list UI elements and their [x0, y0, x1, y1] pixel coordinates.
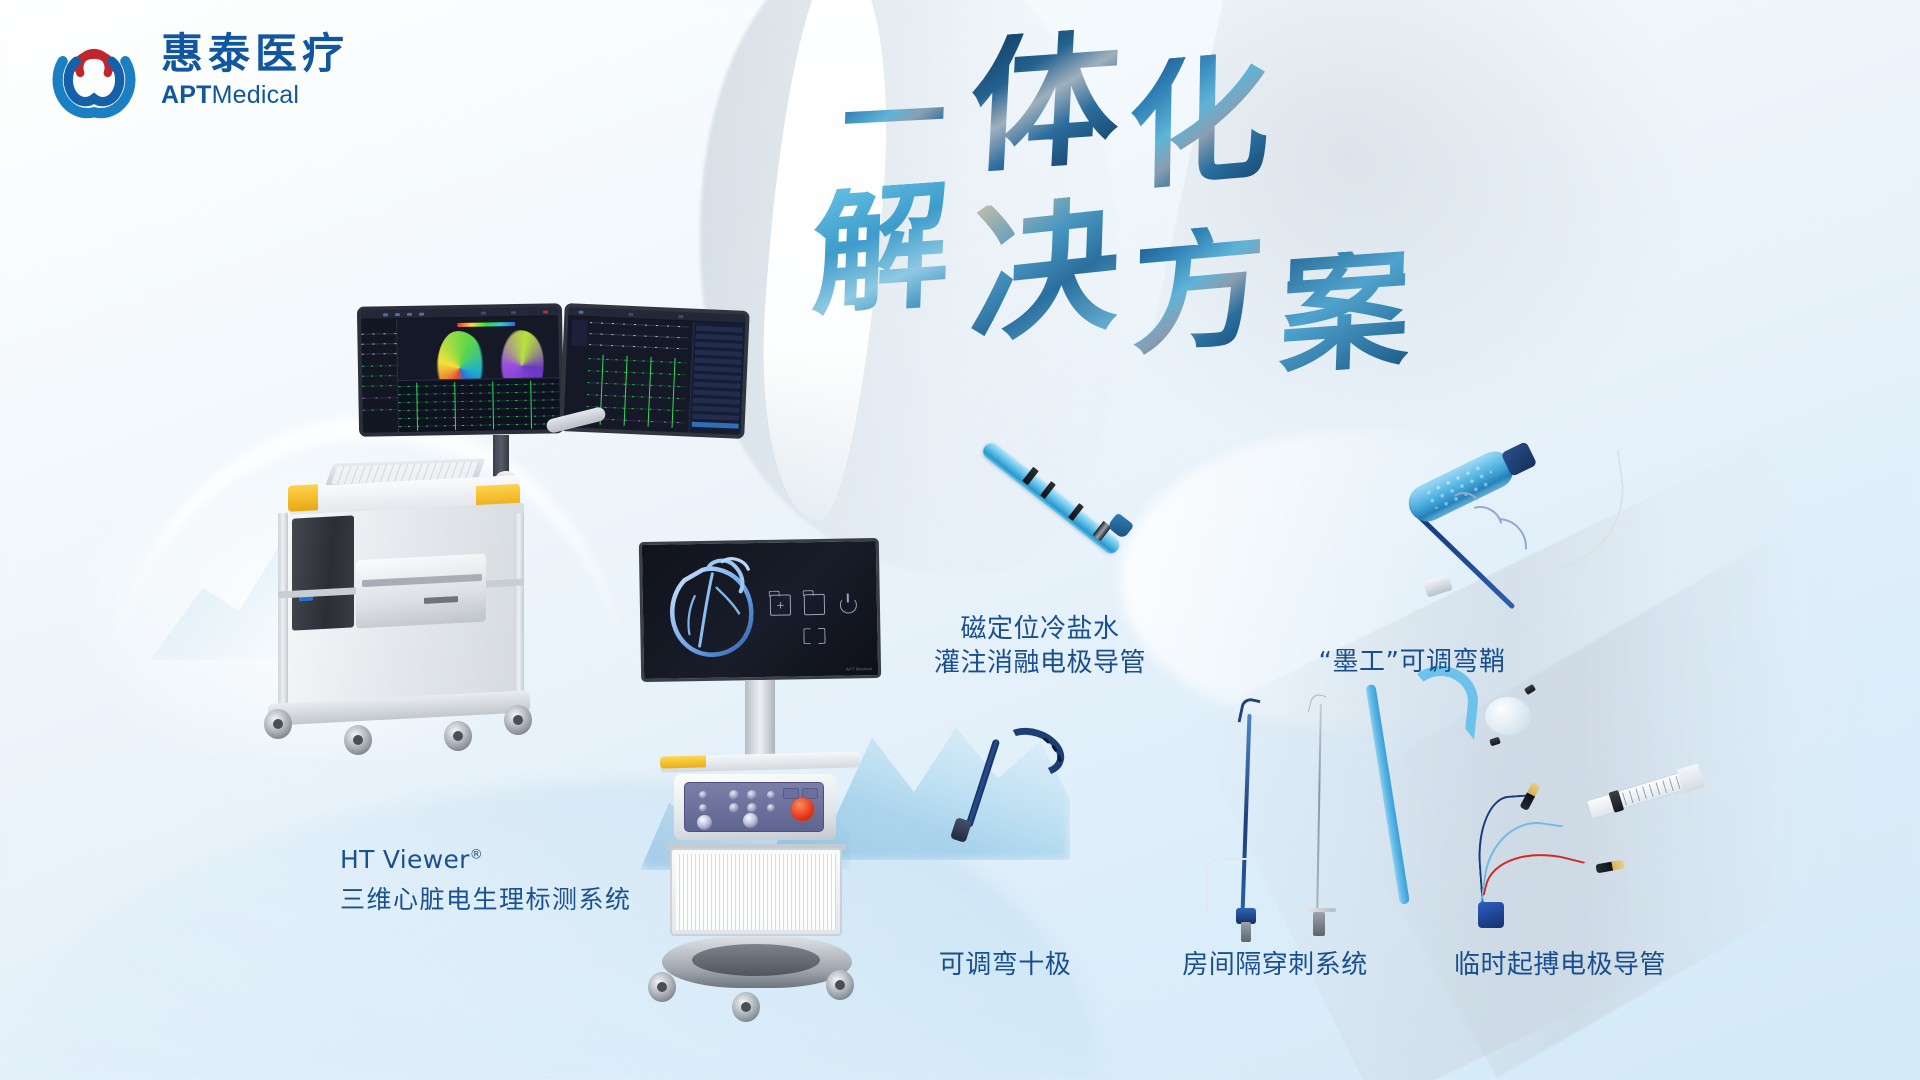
- headline-char-1: 一: [840, 69, 947, 170]
- storage-basket: [670, 848, 842, 936]
- cart-caster: [264, 709, 292, 739]
- logo-en-light: Medical: [212, 81, 300, 109]
- headline-char-3: 化: [1127, 49, 1271, 193]
- main-connector-port[interactable]: [743, 813, 758, 828]
- workstation-name-en-text: HT Viewer: [340, 845, 470, 874]
- ground-port[interactable]: [697, 815, 712, 830]
- sheath-flush-tubing: [1510, 451, 1634, 573]
- cart-caster: [444, 721, 472, 751]
- connector-port[interactable]: [747, 803, 757, 813]
- caption-line-1: 可调弯十极: [939, 948, 1072, 982]
- mapping-toolbar: [361, 307, 558, 319]
- cart-caster: [732, 992, 760, 1022]
- workstation-name-cn: 三维心脏电生理标测系统: [340, 880, 632, 916]
- cart-caster: [344, 725, 372, 755]
- generator-display-cart: APT Medical: [640, 540, 920, 1040]
- inflation-syringe: [1584, 762, 1700, 823]
- catheter-hub: [1478, 902, 1504, 928]
- apt-medical-emblem-icon: [45, 22, 143, 120]
- caption-ablation-catheter: 磁定位冷盐水 灌注消融电极导管: [934, 612, 1146, 681]
- caption-line-1: 临时起搏电极导管: [1454, 948, 1666, 982]
- segmentation-icon[interactable]: [803, 628, 825, 644]
- heart-display-menu: [770, 593, 859, 616]
- poster-canvas: 惠泰医疗 APTMedical 一 体 化 解 决 方 案: [0, 0, 1920, 1080]
- steerable-sheath-illustration: [1395, 430, 1660, 615]
- recording-channel-grid: [688, 322, 745, 435]
- electrode-band: [1524, 684, 1536, 695]
- electrode-band: [1489, 737, 1501, 747]
- connector-port[interactable]: [767, 791, 775, 799]
- new-case-folder-icon[interactable]: [770, 594, 791, 615]
- cart-tray-accent: [660, 755, 706, 768]
- temporary-pacing-catheter-illustration: [1390, 680, 1690, 930]
- caption-line-1: 磁定位冷盐水: [934, 612, 1146, 646]
- headline-char-4: 解: [810, 181, 952, 318]
- connector-port[interactable]: [767, 804, 775, 812]
- caption-temporary-pacing-catheter: 临时起搏电极导管: [1454, 948, 1666, 982]
- dilator-hub-stem: [1241, 922, 1251, 942]
- heart-display-monitor: APT Medical: [639, 538, 881, 682]
- emergency-stop-button[interactable]: [791, 798, 814, 821]
- decapolar-catheter-illustration: [955, 735, 1075, 845]
- trademark-symbol: ®: [470, 848, 483, 863]
- logo-en-bold: APT: [161, 81, 212, 109]
- brand-logo: 惠泰医疗 APTMedical: [45, 22, 349, 120]
- needle-hub: [1313, 912, 1325, 936]
- headline-char-5: 决: [968, 192, 1122, 347]
- cart-caster: [826, 970, 854, 1000]
- display-post: [745, 680, 775, 758]
- cart-pillar-left: [278, 513, 288, 710]
- mapping-side-panel: [361, 319, 399, 433]
- caption-workstation: HT Viewer® 三维心脏电生理标测系统: [340, 845, 632, 916]
- caption-line-1: “墨工”可调弯鞘: [1319, 645, 1506, 679]
- cart-pedestal-inner: [692, 944, 820, 976]
- caption-steerable-sheath: “墨工”可调弯鞘: [1319, 645, 1506, 679]
- recording-label-list: [571, 319, 588, 346]
- lead-connector-pin: [1595, 860, 1624, 874]
- panel-indicator: [783, 788, 799, 799]
- mapping-colorbar: [457, 322, 515, 327]
- cart-accent-left: [288, 484, 318, 512]
- wave-bottom: [0, 780, 1100, 1080]
- connector-port[interactable]: [729, 790, 739, 800]
- headline-char-7: 案: [1278, 247, 1412, 376]
- connector-port[interactable]: [729, 803, 739, 813]
- headline-char-6: 方: [1131, 222, 1267, 358]
- ablation-catheter-illustration: [985, 438, 1170, 548]
- power-icon[interactable]: [838, 593, 859, 614]
- connector-port[interactable]: [747, 790, 757, 800]
- catheter-shaft: [965, 738, 1000, 828]
- headline-calligraphy: 一 体 化 解 决 方 案: [960, 38, 1600, 338]
- computer-tower: [292, 515, 354, 630]
- mapping-screen: [361, 307, 560, 432]
- logo-chinese-name: 惠泰医疗: [161, 32, 349, 76]
- caption-line-1: 房间隔穿刺系统: [1182, 948, 1368, 982]
- catheter-curve: [994, 720, 1071, 784]
- cart-pillar-right: [514, 513, 524, 710]
- cart-caster: [648, 972, 676, 1002]
- connector-port[interactable]: [699, 804, 707, 812]
- needle-tip: [1308, 693, 1326, 716]
- generator-front-panel: [684, 782, 824, 832]
- catheter-handle: [950, 817, 972, 843]
- transseptal-needle: [1316, 704, 1322, 916]
- inflation-balloon: [1484, 696, 1532, 736]
- hemostasis-valve: [1423, 574, 1453, 597]
- transseptal-system-illustration: [1200, 690, 1370, 940]
- display-brand-text: APT Medical: [846, 666, 872, 671]
- logo-english-name: APTMedical: [161, 81, 349, 110]
- connector-port[interactable]: [699, 791, 707, 799]
- caption-line-2: 灌注消融电极导管: [934, 646, 1146, 680]
- logo-wordmark: 惠泰医疗 APTMedical: [161, 32, 349, 109]
- headline-char-2: 体: [967, 26, 1124, 175]
- cardiac-anatomy-icon: [650, 551, 787, 671]
- printer: [356, 554, 486, 629]
- open-case-folder-icon[interactable]: [804, 594, 825, 615]
- caption-transseptal-system: 房间隔穿刺系统: [1182, 948, 1368, 982]
- mapping-monitor: [357, 303, 564, 437]
- cart-caster: [504, 705, 532, 735]
- workstation-name-en: HT Viewer®: [340, 845, 632, 874]
- mapping-ecg-pane: [398, 377, 560, 432]
- caption-decapolar-catheter: 可调弯十极: [939, 948, 1072, 982]
